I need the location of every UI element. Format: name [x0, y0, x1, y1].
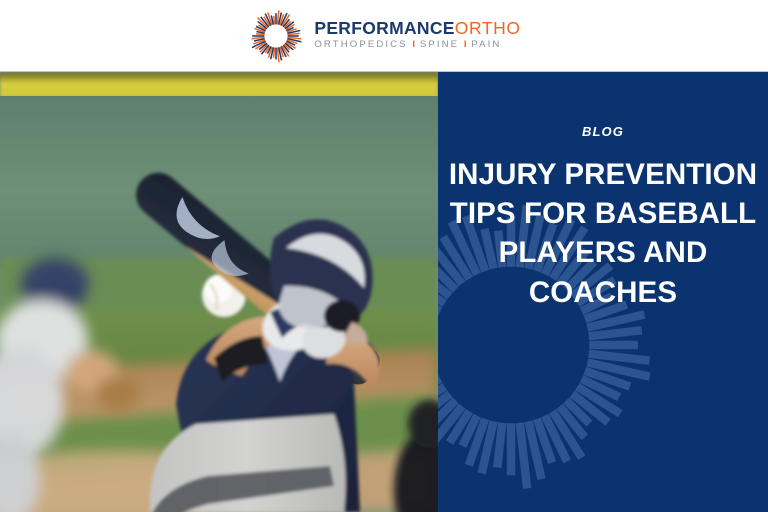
- logo-tagline-spine: SPINE: [420, 39, 459, 50]
- blog-eyebrow-label: BLOG: [438, 125, 768, 138]
- site-header: PERFORMANCEORTHO ORTHOPEDICS I SPINE I P…: [0, 0, 768, 72]
- logo-word-secondary: ORTHO: [455, 18, 521, 38]
- blog-title-content: BLOG INJURY PREVENTION TIPS FOR BASEBALL…: [438, 72, 768, 312]
- baseball-batter-swinging-photo: [0, 72, 438, 512]
- baseball-photo-illustration: [0, 72, 438, 512]
- blog-title-panel: BLOG INJURY PREVENTION TIPS FOR BASEBALL…: [438, 72, 768, 512]
- logo-wordmark: PERFORMANCEORTHO: [314, 20, 520, 38]
- performance-ortho-radial-logo-icon: [247, 7, 305, 65]
- blog-hero-banner: PERFORMANCEORTHO ORTHOPEDICS I SPINE I P…: [0, 0, 768, 512]
- logo-text-block: PERFORMANCEORTHO ORTHOPEDICS I SPINE I P…: [314, 20, 520, 51]
- site-logo[interactable]: PERFORMANCEORTHO ORTHOPEDICS I SPINE I P…: [247, 7, 520, 65]
- logo-tagline: ORTHOPEDICS I SPINE I PAIN: [314, 40, 520, 50]
- logo-tagline-orthopedics: ORTHOPEDICS: [314, 39, 407, 50]
- logo-tagline-separator-2: I: [464, 39, 467, 50]
- logo-word-primary: PERFORMANCE: [314, 18, 454, 38]
- logo-tagline-pain: PAIN: [471, 39, 501, 50]
- logo-tagline-separator-1: I: [412, 39, 415, 50]
- page-title: INJURY PREVENTION TIPS FOR BASEBALL PLAY…: [438, 155, 768, 312]
